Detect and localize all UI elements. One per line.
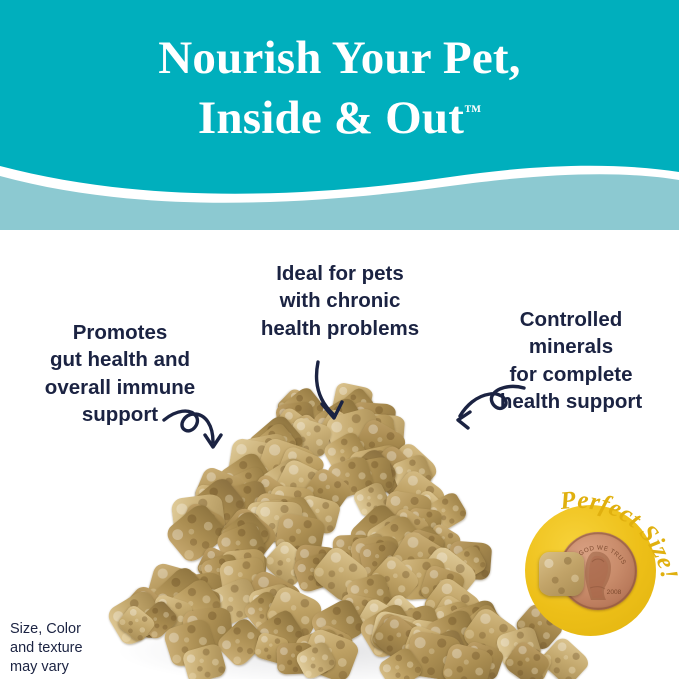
wave-light-shape	[0, 174, 679, 230]
product-feature-image: Nourish Your Pet, Inside & Out™ Promotes…	[0, 0, 679, 679]
headline-line-2: Inside & Out™	[0, 88, 679, 148]
disclaimer-text: Size, Color and texture may vary	[10, 620, 170, 677]
callout-chronic-health: Ideal for pets with chronic health probl…	[236, 260, 444, 342]
coin-year: 2008	[607, 589, 622, 596]
callout-controlled-minerals: Controlled minerals for complete health …	[466, 306, 676, 415]
callout-gut-health: Promotes gut health and overall immune s…	[14, 319, 226, 428]
headline-line-1: Nourish Your Pet,	[0, 28, 679, 88]
page-title: Nourish Your Pet, Inside & Out™	[0, 28, 679, 148]
badge-kibble-piece	[539, 552, 584, 596]
trademark-symbol: ™	[464, 102, 481, 121]
headline-line-2-text: Inside & Out	[198, 92, 464, 144]
perfect-size-badge: Perfect Size! IN GOD WE TRUST 2008	[512, 470, 679, 650]
